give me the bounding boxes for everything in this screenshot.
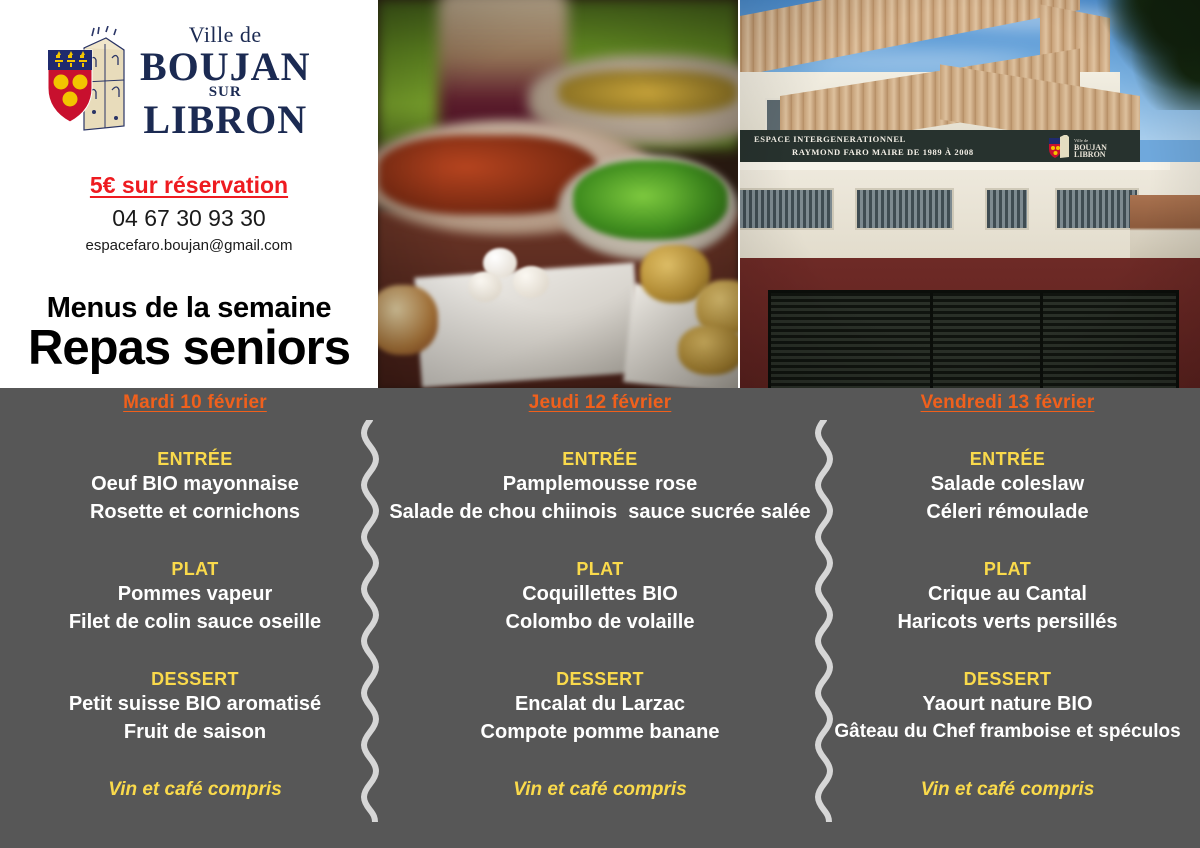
day-title: Jeudi 12 février	[385, 392, 815, 414]
page-title: Menus de la semaine Repas seniors	[0, 292, 378, 374]
dish-item: Coquillettes BIO	[385, 580, 815, 608]
dish-item: Colombo de volaille	[385, 608, 815, 636]
dish-item: Yaourt nature BIO	[820, 690, 1195, 718]
dish-item: Salade de chou chiinois sauce sucrée sal…	[385, 498, 815, 526]
menu-section-plat: PLAT Crique au Cantal Haricots verts per…	[820, 559, 1195, 636]
dish-item: Haricots verts persillés	[820, 608, 1195, 636]
menu-column-mardi: Mardi 10 février ENTRÉE Oeuf BIO mayonna…	[10, 388, 380, 801]
menu-section-dessert: DESSERT Yaourt nature BIO Gâteau du Chef…	[820, 669, 1195, 746]
dish-item: Petit suisse BIO aromatisé	[10, 690, 380, 718]
menu-section-entree: ENTRÉE Pamplemousse rose Salade de chou …	[385, 449, 815, 526]
dish-item: Filet de colin sauce oseille	[10, 608, 380, 636]
section-label: DESSERT	[385, 669, 815, 690]
menu-section-dessert: DESSERT Encalat du Larzac Compote pomme …	[385, 669, 815, 746]
page-main-title: Repas seniors	[0, 323, 378, 374]
coat-of-arms-icon	[44, 26, 130, 138]
section-label: DESSERT	[820, 669, 1195, 690]
menu-section-plat: PLAT Coquillettes BIO Colombo de volaill…	[385, 559, 815, 636]
section-label: PLAT	[10, 559, 380, 580]
section-label: DESSERT	[10, 669, 380, 690]
included-note: Vin et café compris	[820, 779, 1195, 801]
day-title: Vendredi 13 février	[820, 392, 1195, 414]
dish-item: Céleri rémoulade	[820, 498, 1195, 526]
included-note: Vin et café compris	[385, 779, 815, 801]
section-label: ENTRÉE	[820, 449, 1195, 470]
photo-vignette	[378, 0, 738, 389]
dish-item: Compote pomme banane	[385, 718, 815, 746]
contact-block: 5€ sur réservation 04 67 30 93 30 espace…	[0, 172, 378, 254]
section-label: PLAT	[385, 559, 815, 580]
logo-line-boujan: BOUJAN	[140, 47, 310, 87]
section-label: ENTRÉE	[385, 449, 815, 470]
included-note: Vin et café compris	[10, 779, 380, 801]
logo-line-libron: LIBRON	[143, 100, 307, 140]
buffet-meal-photo	[378, 0, 738, 389]
email-address[interactable]: espacefaro.boujan@gmail.com	[0, 237, 378, 254]
menu-section-plat: PLAT Pommes vapeur Filet de colin sauce …	[10, 559, 380, 636]
menu-column-jeudi: Jeudi 12 février ENTRÉE Pamplemousse ros…	[385, 388, 815, 801]
price-notice: 5€ sur réservation	[0, 172, 378, 199]
dish-item: Pommes vapeur	[10, 580, 380, 608]
dish-item: Gâteau du Chef framboise et spéculos	[820, 718, 1195, 746]
menu-section-dessert: DESSERT Petit suisse BIO aromatisé Fruit…	[10, 669, 380, 746]
logo-line-ville: Ville de	[189, 24, 262, 46]
wavy-divider	[358, 420, 382, 822]
dish-item: Rosette et cornichons	[10, 498, 380, 526]
dish-item: Salade coleslaw	[820, 470, 1195, 498]
photo-vignette	[740, 0, 1200, 389]
espace-faro-building-photo: ESPACE INTERGENERATIONNEL RAYMOND FARO M…	[740, 0, 1200, 389]
dish-item: Fruit de saison	[10, 718, 380, 746]
section-label: ENTRÉE	[10, 449, 380, 470]
city-logo: Ville de BOUJAN SUR LIBRON	[44, 18, 344, 146]
section-label: PLAT	[820, 559, 1195, 580]
menu-column-vendredi: Vendredi 13 février ENTRÉE Salade colesl…	[820, 388, 1195, 801]
city-logo-wordmark: Ville de BOUJAN SUR LIBRON	[140, 24, 310, 140]
menu-section-entree: ENTRÉE Salade coleslaw Céleri rémoulade	[820, 449, 1195, 526]
dish-item: Pamplemousse rose	[385, 470, 815, 498]
day-title: Mardi 10 février	[10, 392, 380, 414]
dish-item: Crique au Cantal	[820, 580, 1195, 608]
dish-item: Encalat du Larzac	[385, 690, 815, 718]
header-band: Ville de BOUJAN SUR LIBRON 5€ sur réserv…	[0, 0, 1200, 389]
phone-number[interactable]: 04 67 30 93 30	[0, 205, 378, 232]
dish-item: Oeuf BIO mayonnaise	[10, 470, 380, 498]
wavy-divider	[812, 420, 836, 822]
weekly-menu-panel: Mardi 10 février ENTRÉE Oeuf BIO mayonna…	[0, 388, 1200, 848]
menu-section-entree: ENTRÉE Oeuf BIO mayonnaise Rosette et co…	[10, 449, 380, 526]
